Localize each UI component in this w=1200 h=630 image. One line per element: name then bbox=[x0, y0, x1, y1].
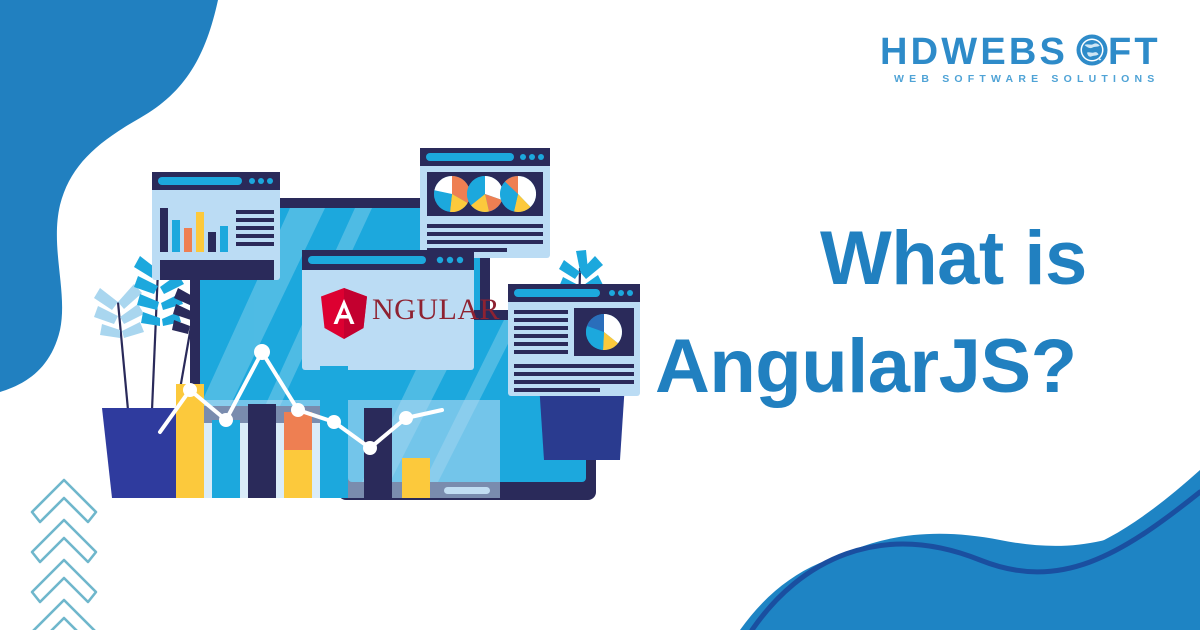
chevron-up-icon bbox=[32, 600, 96, 630]
chevron-up-icon bbox=[32, 520, 96, 562]
article-pie-window bbox=[508, 284, 640, 396]
chevron-up-icon bbox=[32, 560, 96, 602]
banner-root: HDWEBS FT WEB SOFTWARE SOLUTIONS What is… bbox=[0, 0, 1200, 630]
hero-illustration: NGULAR bbox=[80, 120, 660, 500]
brand-name-part1: HDWEBS bbox=[880, 31, 1068, 73]
title-line-2: AngularJS? bbox=[655, 313, 1175, 421]
angular-wordmark: NGULAR bbox=[372, 293, 500, 326]
chart-bg-band bbox=[200, 400, 500, 498]
window-address-bar bbox=[308, 256, 426, 264]
window-dots bbox=[249, 178, 273, 184]
window-address-bar bbox=[158, 177, 242, 185]
angular-window: NGULAR bbox=[302, 250, 500, 370]
globe-icon bbox=[1077, 35, 1108, 66]
window-footer-block bbox=[160, 260, 274, 280]
pie-charts-window bbox=[420, 148, 550, 258]
pie-chart-right bbox=[586, 314, 622, 350]
window-dots bbox=[520, 154, 544, 160]
pie-chart-3 bbox=[500, 176, 536, 212]
pie-chart-2 bbox=[467, 176, 503, 212]
title-line-1: What is bbox=[655, 205, 1175, 313]
brand-logo[interactable]: HDWEBS FT WEB SOFTWARE SOLUTIONS bbox=[880, 24, 1170, 88]
page-title: What is AngularJS? bbox=[655, 205, 1175, 421]
window-dots bbox=[437, 257, 463, 263]
brand-name-part2: FT bbox=[1108, 31, 1161, 73]
pie-chart-1 bbox=[434, 176, 470, 212]
brand-tagline: WEB SOFTWARE SOLUTIONS bbox=[894, 73, 1159, 85]
bar-chart-window bbox=[152, 172, 280, 280]
window-address-bar bbox=[426, 153, 514, 161]
window-dots bbox=[609, 290, 633, 296]
window-address-bar bbox=[514, 289, 600, 297]
